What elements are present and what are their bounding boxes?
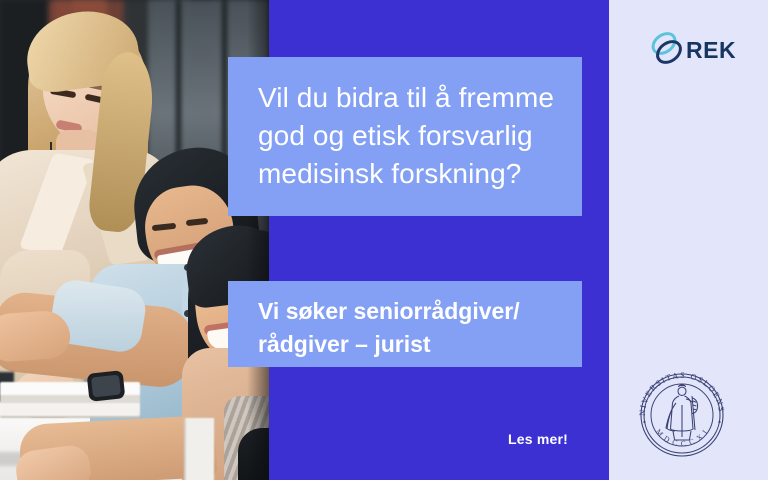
question-line-1: Vil du bidra til å fremme <box>258 79 554 117</box>
question-line-3: medisinsk forskning? <box>258 155 554 193</box>
rek-wordmark: REK <box>686 39 736 62</box>
role-line-2: rådgiver – jurist <box>258 328 554 361</box>
rek-logo[interactable]: REK <box>650 28 736 72</box>
photo-man-hand <box>0 309 72 362</box>
role-line-1: Vi søker seniorrådgiver/ <box>258 295 554 328</box>
read-more-link[interactable]: Les mer! <box>508 431 568 447</box>
interlocking-rings-icon <box>650 29 684 72</box>
question-line-2: god og etisk forsvarlig <box>258 117 554 155</box>
role-card: Vi søker seniorrådgiver/ rådgiver – juri… <box>228 281 582 367</box>
photo-paper-stack <box>186 418 214 480</box>
seal-apollo-figure <box>666 385 698 440</box>
question-card: Vil du bidra til å fremme god og etisk f… <box>228 57 582 216</box>
photo-smartwatch <box>87 370 126 402</box>
uio-seal: UNIVERSITAS OSLOENSIS M D C C C X I <box>632 365 732 465</box>
banner-root: Vil du bidra til å fremme god og etisk f… <box>0 0 768 480</box>
